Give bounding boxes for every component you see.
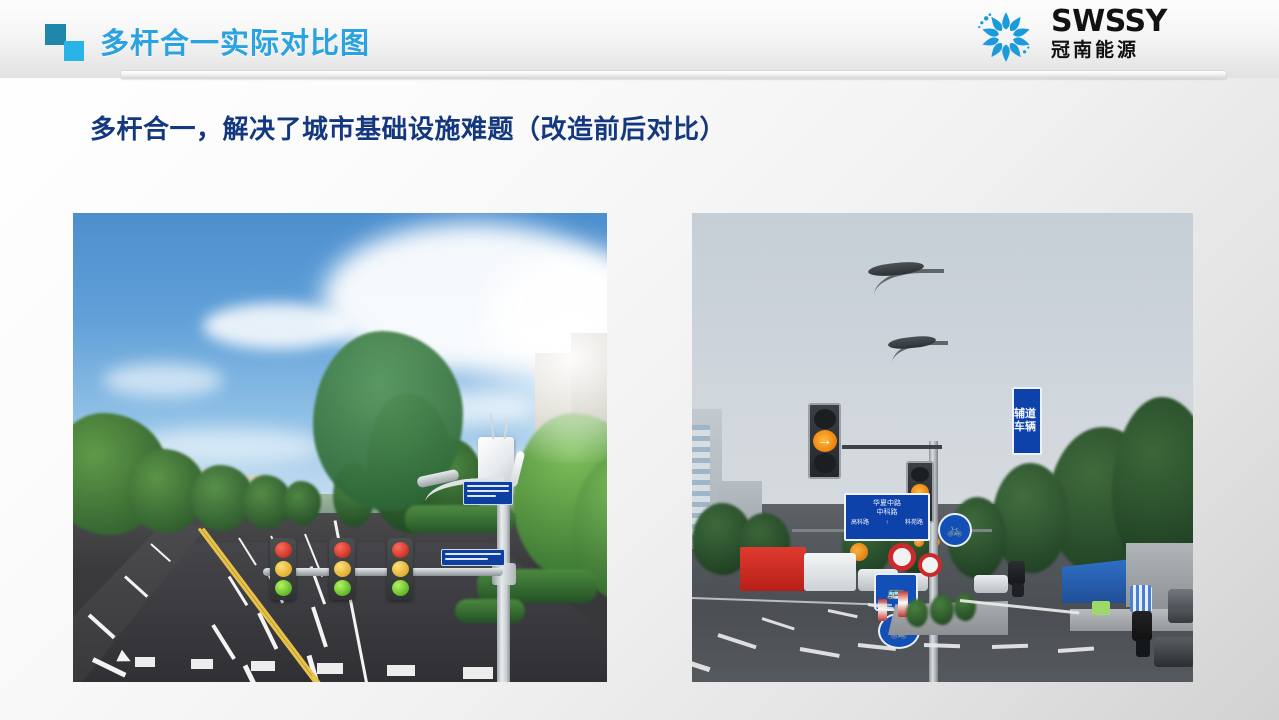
car	[974, 575, 1008, 593]
median-shrub	[954, 593, 976, 621]
green-bag	[1092, 601, 1110, 615]
traffic-light-yellow	[275, 561, 292, 577]
median-shrub	[906, 599, 928, 627]
page-title: 多杆合一实际对比图	[100, 20, 370, 62]
lane-sign-auxiliary-road: 辅道车辆	[1012, 387, 1042, 455]
bicycle	[1136, 639, 1150, 657]
signal-cross-arm	[263, 568, 503, 576]
lane-sign-text: 辅道车辆	[1014, 408, 1040, 434]
prohibition-sign-icon	[888, 543, 916, 571]
white-van	[804, 553, 856, 591]
slide-canvas: 多杆合一实际对比图	[0, 0, 1279, 720]
square-dark-icon	[45, 24, 66, 45]
guide-sign-right-text: 科苑路	[905, 519, 923, 527]
guide-sign-main-text: 华夏中路	[851, 499, 923, 508]
signal-lamp-off	[814, 409, 836, 429]
tree-canopy	[992, 463, 1068, 573]
company-logo: SWSSY 冠南能源	[973, 4, 1233, 72]
signal-mounting-arm	[842, 445, 942, 449]
traffic-light-red	[392, 542, 409, 558]
traffic-light-red	[334, 542, 351, 558]
median-shrub	[930, 595, 954, 625]
traffic-light-icon	[387, 538, 413, 600]
rider-silhouette	[1132, 611, 1152, 641]
parked-bicycles	[1168, 589, 1193, 623]
prohibition-sign-icon	[918, 553, 942, 577]
logo-wordmark: SWSSY 冠南能源	[1051, 6, 1167, 63]
sun-glow	[463, 253, 607, 463]
street-name-sign	[441, 549, 505, 566]
crosswalk-stripe	[251, 661, 275, 671]
tree-canopy	[283, 481, 321, 525]
square-light-icon	[64, 41, 84, 61]
logo-chinese-name: 冠南能源	[1051, 39, 1167, 63]
water-droplet-radial-logo-icon	[973, 6, 1039, 68]
scooter	[1012, 583, 1024, 597]
image-before-photo: → → 辅道车辆 华夏中路 中科路 高科路 ↑ 科苑路 🚌 🚲 🚲	[692, 213, 1193, 682]
traffic-signal-arrow-unit: →	[808, 403, 841, 479]
guide-sign-left-text: 高科路	[851, 519, 869, 527]
parked-bicycles	[1154, 637, 1193, 667]
traffic-light-icon	[329, 538, 355, 600]
traffic-light-green	[334, 580, 351, 596]
logo-english-name: SWSSY	[1051, 6, 1167, 38]
guide-sign-board	[463, 481, 513, 505]
cloud-shape	[103, 363, 223, 397]
bollard	[878, 599, 887, 621]
traffic-light-yellow	[392, 561, 409, 577]
red-truck	[740, 547, 806, 591]
cloud-shape	[203, 303, 353, 349]
right-turn-arrow-icon: →	[813, 430, 837, 452]
traffic-light-green	[275, 580, 292, 596]
bicycle-lane-sign-icon: 🚲	[938, 513, 972, 547]
traffic-light-green	[392, 580, 409, 596]
guide-sign-arrow-up-icon: ↑	[886, 519, 889, 527]
tree-canopy	[313, 331, 463, 511]
crosswalk-stripe	[135, 657, 155, 667]
crosswalk-stripe	[191, 659, 213, 669]
image-after-rendering	[73, 213, 607, 682]
crosswalk-stripe	[463, 667, 493, 679]
square-marks-icon	[45, 24, 89, 62]
shrub-hedge	[455, 599, 525, 623]
traffic-light-red	[275, 542, 292, 558]
rider-silhouette	[1130, 585, 1152, 613]
rider-silhouette	[1008, 561, 1025, 585]
crosswalk-stripe	[317, 663, 343, 674]
signal-lamp-off	[814, 453, 836, 473]
slide-header: 多杆合一实际对比图	[0, 0, 1279, 78]
guide-sign-sub-text: 中科路	[851, 508, 923, 517]
traffic-light-yellow	[334, 561, 351, 577]
crosswalk-stripe	[387, 665, 415, 676]
signal-lamp-off	[911, 467, 929, 482]
slide-subtitle: 多杆合一，解决了城市基础设施难题（改造前后对比）	[90, 109, 726, 146]
traffic-light-icon	[270, 538, 296, 600]
direction-guide-sign: 华夏中路 中科路 高科路 ↑ 科苑路	[844, 493, 930, 541]
